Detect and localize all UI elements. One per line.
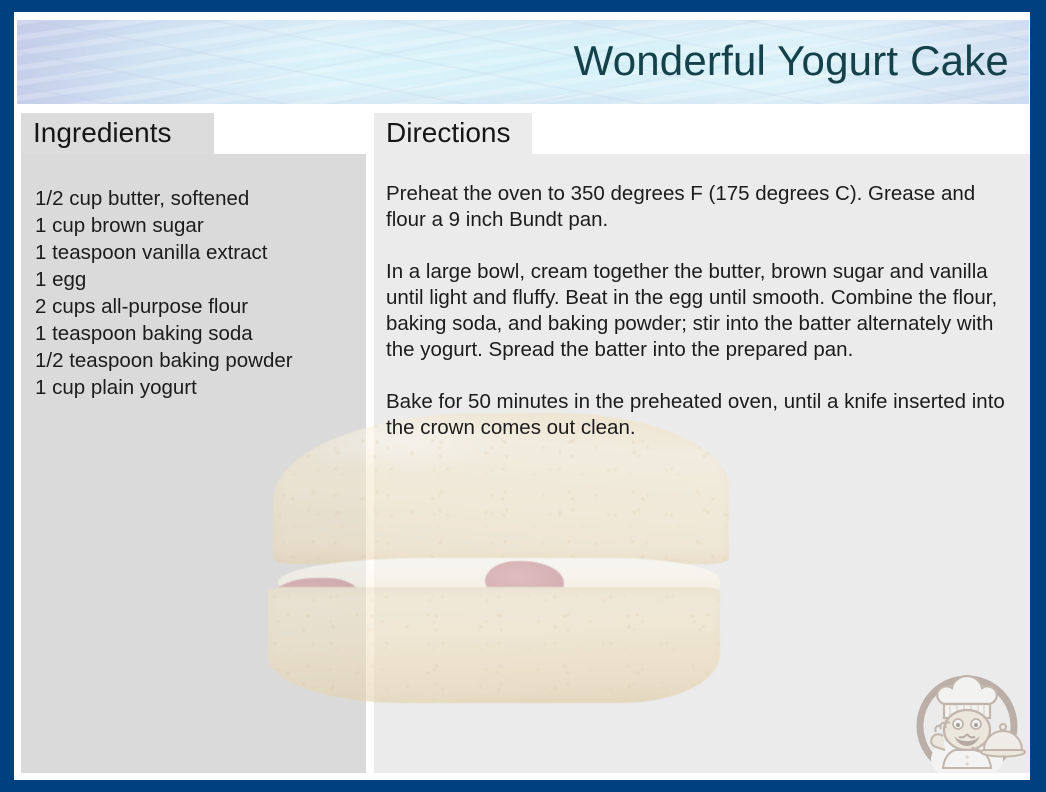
ingredients-tab: Ingredients — [21, 113, 214, 154]
direction-step: Preheat the oven to 350 degrees F (175 d… — [386, 181, 1018, 233]
direction-step: In a large bowl, cream together the butt… — [386, 259, 1018, 363]
recipe-card: Wonderful Yogurt Cake Ingredients 1/2 cu… — [0, 0, 1046, 792]
ingredient-list: 1/2 cup butter, softened1 cup brown suga… — [35, 185, 352, 401]
directions-step-list: Preheat the oven to 350 degrees F (175 d… — [386, 181, 1018, 441]
chef-logo-icon — [910, 664, 1028, 778]
ingredients-body: 1/2 cup butter, softened1 cup brown suga… — [21, 154, 366, 773]
directions-tab: Directions — [374, 113, 532, 154]
directions-heading: Directions — [386, 119, 510, 147]
ingredient-item: 1/2 cup butter, softened — [35, 185, 352, 212]
ingredient-item: 2 cups all-purpose flour — [35, 293, 352, 320]
ingredient-item: 1 cup brown sugar — [35, 212, 352, 239]
ingredient-item: 1 cup plain yogurt — [35, 374, 352, 401]
ingredient-item: 1 teaspoon baking soda — [35, 320, 352, 347]
ingredient-item: 1 egg — [35, 266, 352, 293]
content-panels: Ingredients 1/2 cup butter, softened1 cu… — [14, 113, 1030, 773]
ingredients-heading: Ingredients — [33, 119, 172, 147]
title-banner: Wonderful Yogurt Cake — [17, 20, 1029, 104]
ingredient-item: 1 teaspoon vanilla extract — [35, 239, 352, 266]
page-title: Wonderful Yogurt Cake — [574, 37, 1009, 85]
recipe-card-inner: Wonderful Yogurt Cake Ingredients 1/2 cu… — [14, 12, 1030, 780]
ingredients-panel: Ingredients 1/2 cup butter, softened1 cu… — [21, 113, 366, 773]
direction-step: Bake for 50 minutes in the preheated ove… — [386, 389, 1018, 441]
ingredient-item: 1/2 teaspoon baking powder — [35, 347, 352, 374]
